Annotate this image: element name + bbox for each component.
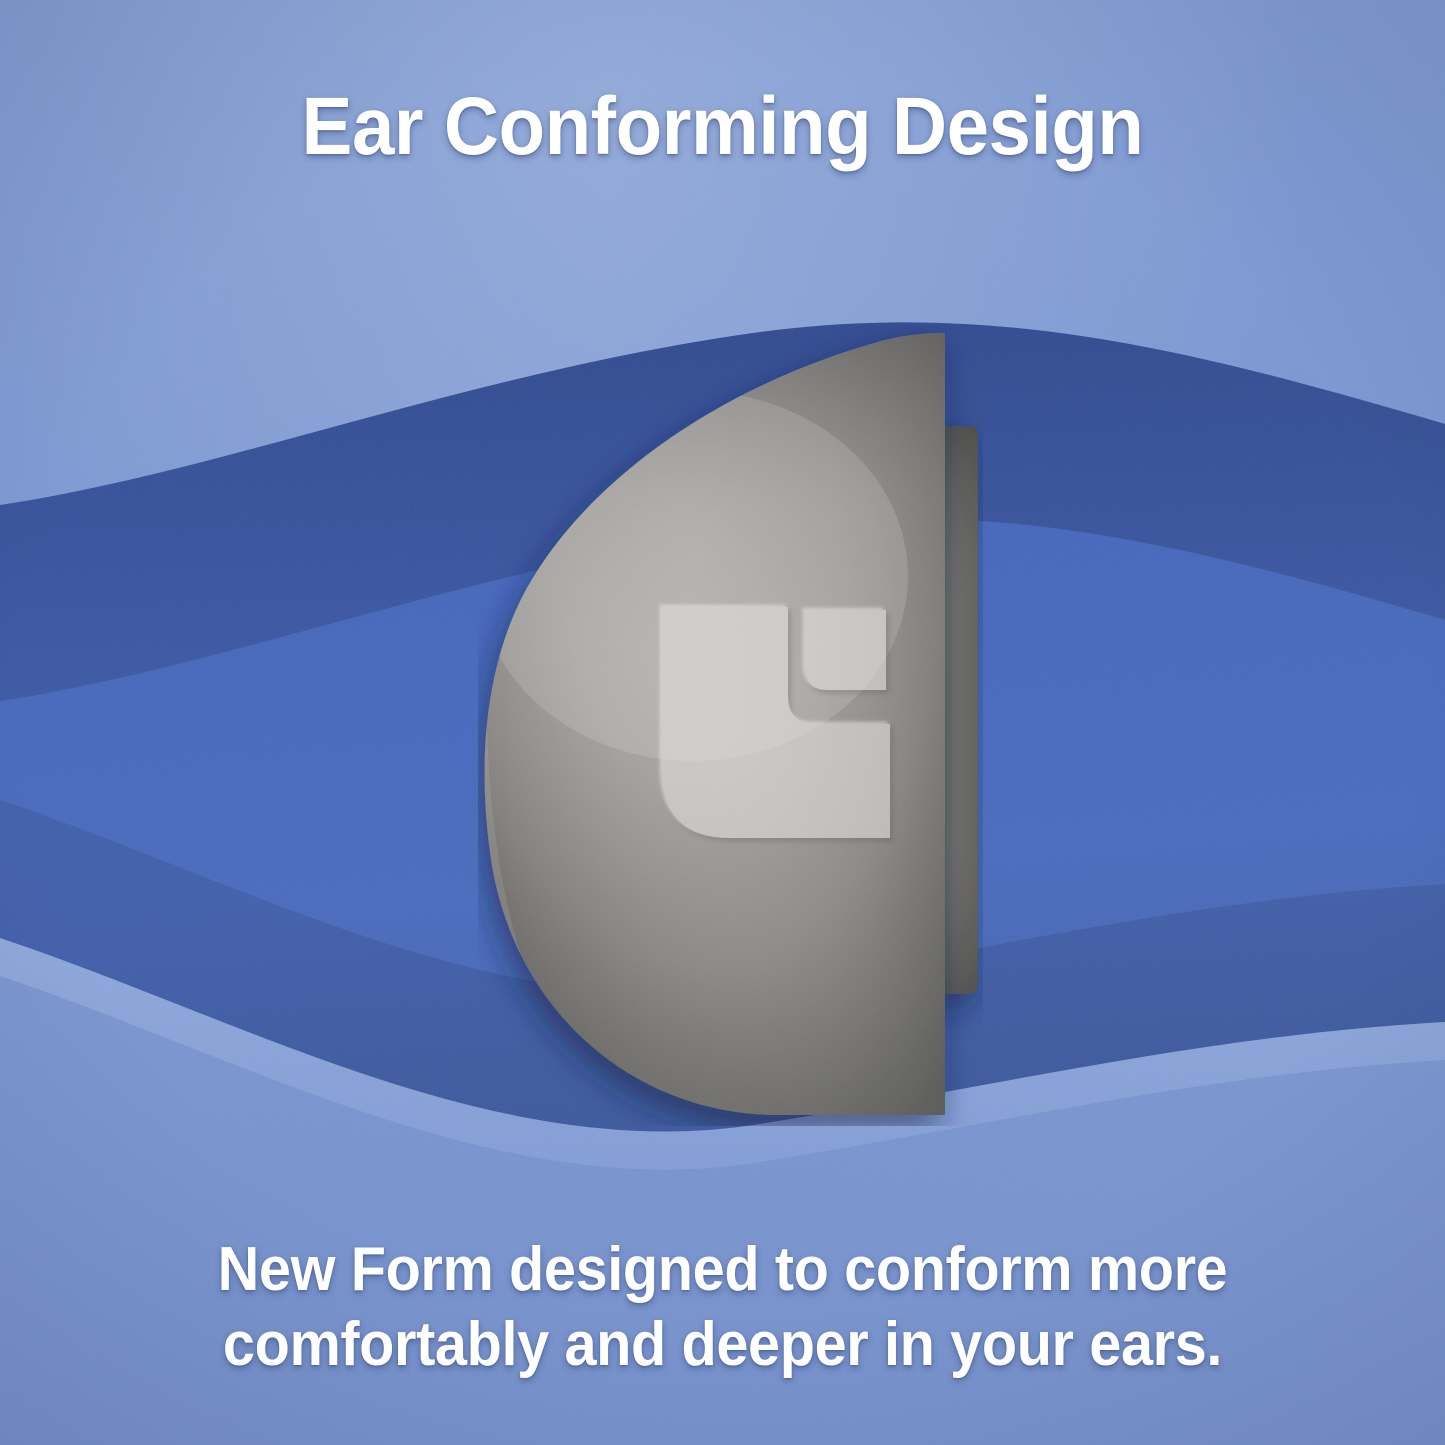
earbud-grain-texture [478, 326, 983, 1126]
product-image-canvas: Ear Conforming Design New Form designed … [0, 0, 1445, 1445]
caption-line-1: New Form designed to conform more [134, 1232, 1310, 1308]
caption-block: New Form designed to conform more comfor… [134, 1232, 1310, 1383]
earbud-svg [478, 326, 983, 1126]
caption-line-2: comfortably and deeper in your ears. [134, 1307, 1310, 1383]
page-title: Ear Conforming Design [51, 84, 1395, 170]
earbud-product [478, 326, 983, 1126]
